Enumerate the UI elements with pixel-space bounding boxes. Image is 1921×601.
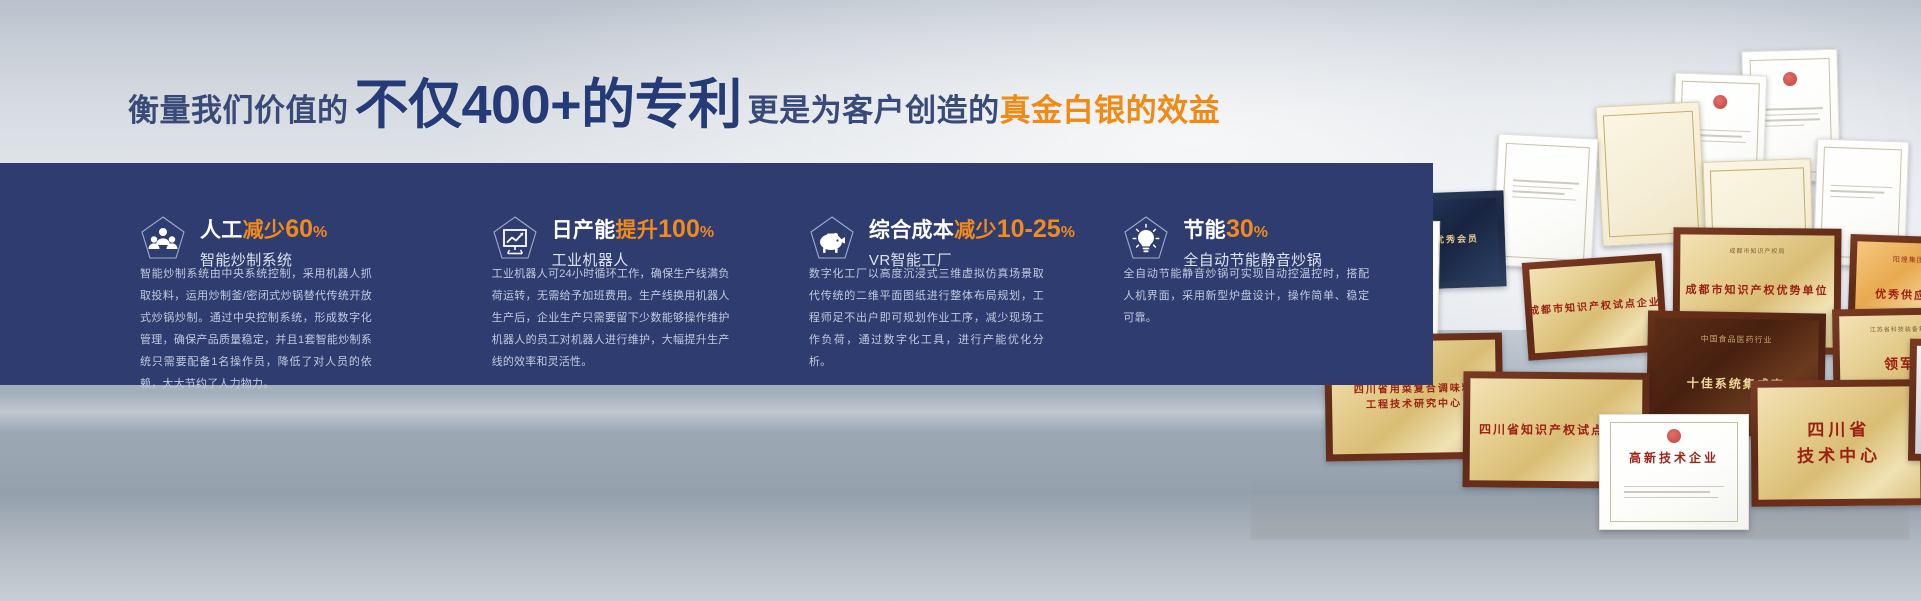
- feature-title-prefix: 人工: [200, 219, 243, 242]
- feature-card-capacity: 日产能提升100% 工业机器人 工业机器人可24小时循环工作，确保生产线满负荷运…: [460, 163, 789, 385]
- feature-title-prefix: 节能: [1183, 219, 1226, 242]
- headline-lead: 衡量我们价值的: [128, 95, 349, 126]
- feature-title-accent: 提升: [616, 219, 659, 242]
- feature-card-cost: 综合成本减少10-25% VR智能工厂 数字化工厂以高度沉浸式三维虚拟仿真场景取…: [789, 163, 1113, 385]
- feature-unit: %: [700, 224, 715, 241]
- piggy-bank-icon: [809, 215, 855, 267]
- feature-body: 全自动节能静音炒锅可实现自动控温控时，搭配人机界面，采用新型炉盘设计，操作简单、…: [1123, 263, 1369, 329]
- feature-unit: %: [313, 224, 328, 241]
- headline-emphasis: 不仅400+的专利: [355, 78, 742, 132]
- certificate-paper: 高新技术企业: [1599, 414, 1749, 530]
- feature-card-energy: 节能30% 全自动节能静音炒锅 全自动节能静音炒锅可实现自动控温控时，搭配人机界…: [1113, 163, 1433, 385]
- certificate-cream: [1595, 101, 1706, 246]
- lightbulb-icon: [1123, 215, 1169, 267]
- feature-title: 人工减少60%: [200, 216, 328, 242]
- feature-amount: 100: [658, 215, 700, 243]
- feature-card-labor: 人工减少60% 智能炒制系统 智能炒制系统由中央系统控制，采用机器人抓取投料，运…: [140, 163, 460, 385]
- feature-body: 智能炒制系统由中央系统控制，采用机器人抓取投料，运用炒制釜/密闭式炒锅替代传统开…: [140, 263, 372, 395]
- certificate-paper: [1492, 133, 1599, 270]
- feature-body: 数字化工厂以高度沉浸式三维虚拟仿真场景取代传统的二维平面图纸进行整体布局规划，工…: [809, 263, 1044, 373]
- feature-title: 综合成本减少10-25%: [869, 216, 1075, 242]
- feature-title-prefix: 综合成本: [869, 219, 954, 242]
- headline-mid: 更是为客户创造的: [748, 95, 1000, 126]
- plaque-gold: 四川省技术中心: [1750, 379, 1921, 507]
- people-group-icon: [140, 215, 186, 267]
- feature-body: 工业机器人可24小时循环工作，确保生产线满负荷运转，无需给予加班费用。生产线换用…: [492, 263, 730, 373]
- feature-amount: 10-25: [997, 215, 1061, 243]
- plaque-silver: 中国食品工业协会 食品行业制造十强企业: [1908, 339, 1921, 464]
- feature-unit: %: [1061, 224, 1076, 241]
- feature-unit: %: [1254, 224, 1269, 241]
- feature-title-prefix: 日产能: [552, 219, 616, 242]
- chart-board-icon: [492, 215, 538, 267]
- feature-amount: 30: [1226, 215, 1254, 243]
- plaque-gold: 成都市知识产权试点企业: [1522, 253, 1668, 361]
- feature-title: 日产能提升100%: [552, 216, 715, 242]
- banner-root: 衡量我们价值的 不仅400+的专利 更是为客户创造的 真金白银的效益: [0, 0, 1921, 601]
- headline-highlight: 真金白银的效益: [1000, 95, 1221, 126]
- features-panel: 人工减少60% 智能炒制系统 智能炒制系统由中央系统控制，采用机器人抓取投料，运…: [0, 163, 1433, 385]
- feature-title-accent: 减少: [954, 219, 997, 242]
- feature-title-accent: 减少: [243, 219, 286, 242]
- feature-title: 节能30%: [1183, 216, 1322, 242]
- feature-amount: 60: [285, 215, 313, 243]
- headline: 衡量我们价值的 不仅400+的专利 更是为客户创造的 真金白银的效益: [128, 76, 1220, 136]
